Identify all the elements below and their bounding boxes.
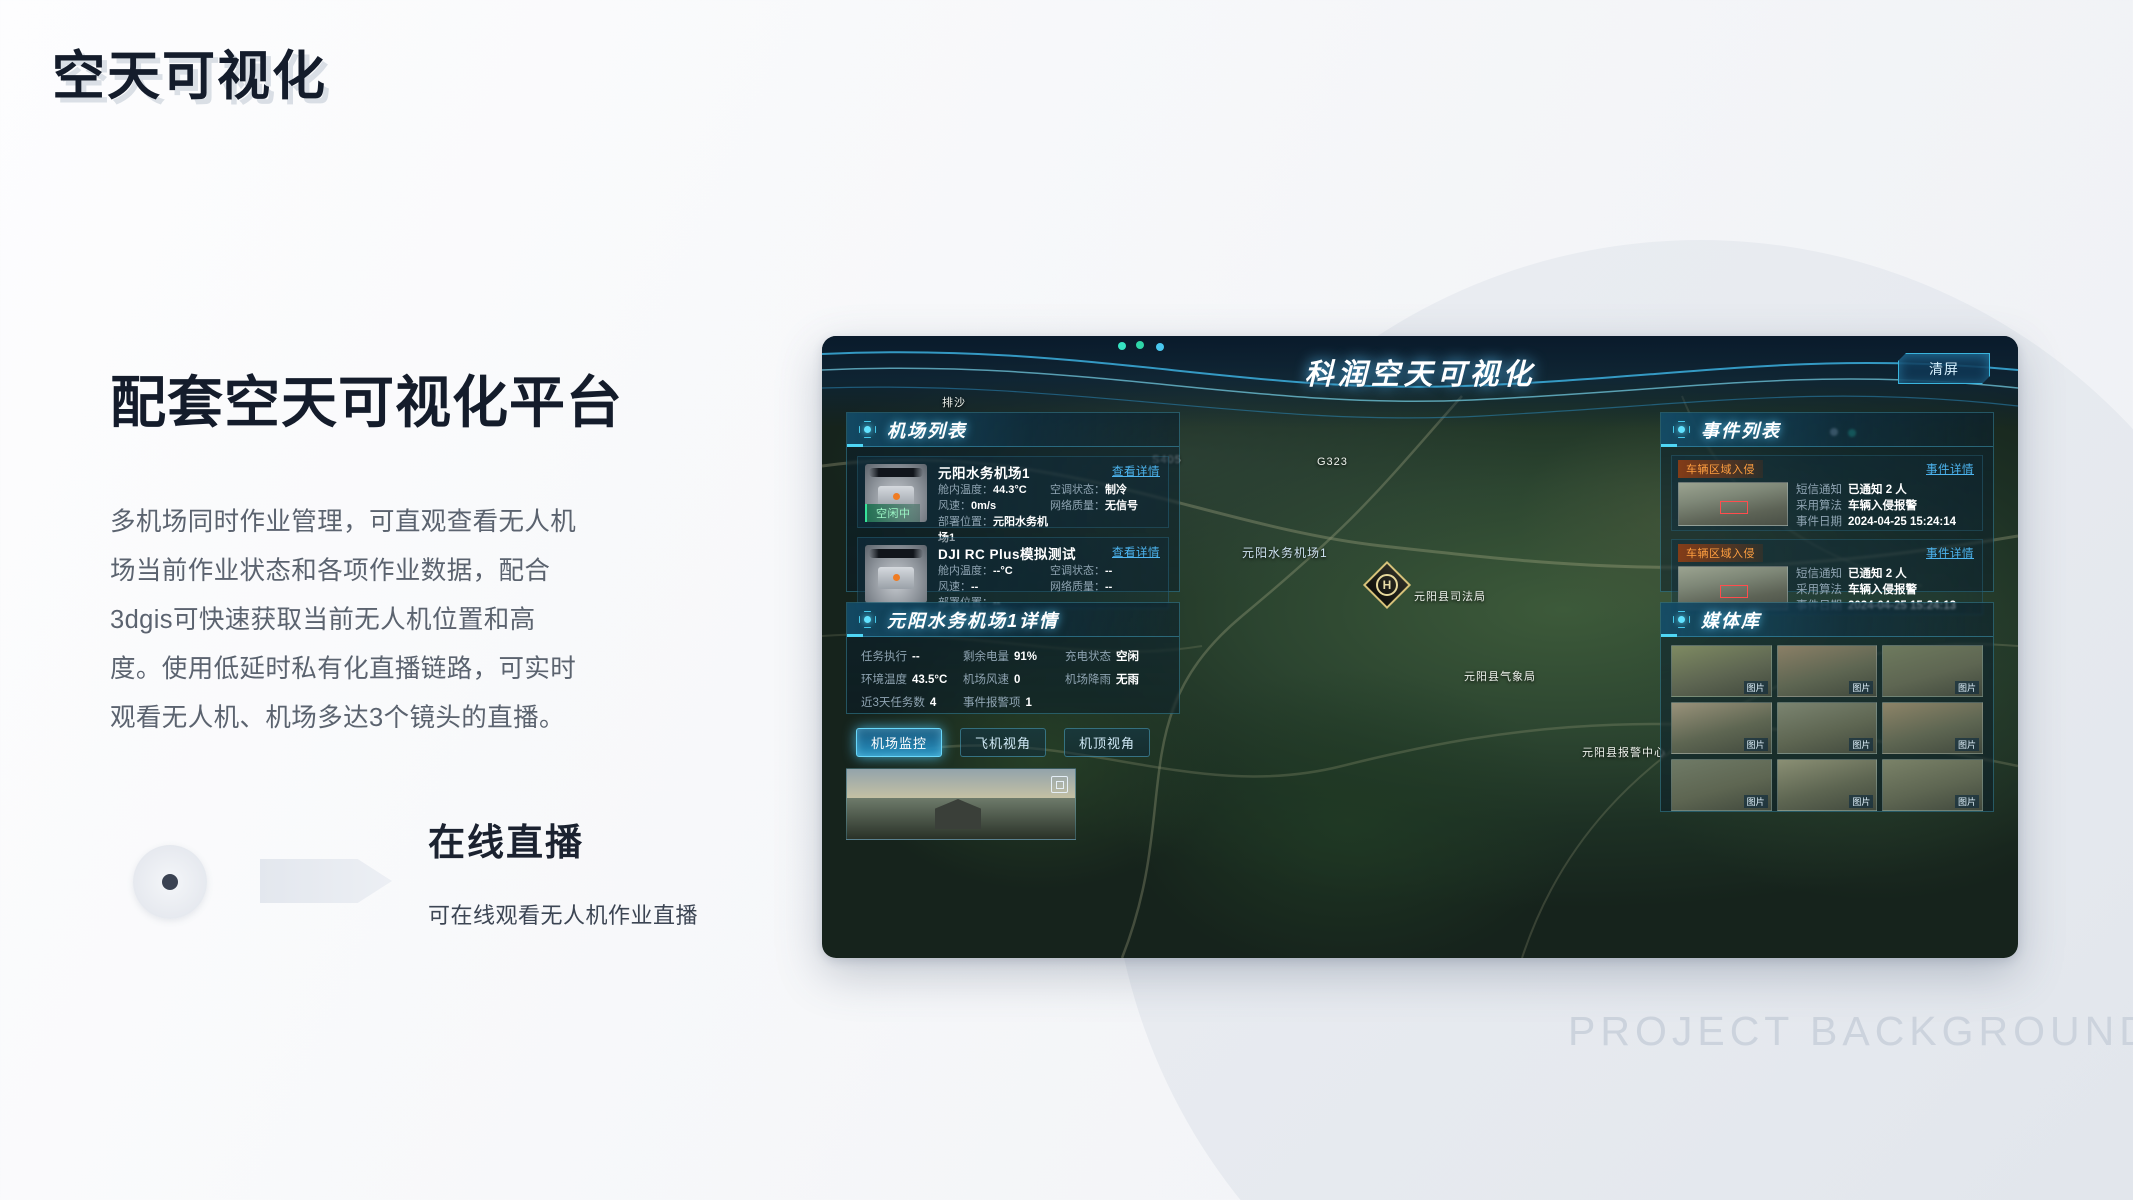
media-type-tag: 图片 bbox=[1744, 681, 1768, 694]
detail-cell: 近3天任务数4 bbox=[861, 694, 963, 713]
airport-card-container: 元阳水务机场1查看详情舱内温度：44.3°C空调状态：制冷风速：0m/s网络质量… bbox=[847, 456, 1179, 609]
airport-list-panel: 机场列表 元阳水务机场1查看详情舱内温度：44.3°C空调状态：制冷风速：0m/… bbox=[846, 412, 1180, 592]
background-watermark: PROJECT BACKGROUND bbox=[1568, 1008, 2133, 1055]
live-stream-title: 在线直播 bbox=[428, 812, 584, 866]
target-icon bbox=[1673, 611, 1690, 628]
event-field-row: 短信通知已通知 2 人 bbox=[1796, 482, 1976, 498]
airport-card[interactable]: 元阳水务机场1查看详情舱内温度：44.3°C空调状态：制冷风速：0m/s网络质量… bbox=[857, 456, 1169, 528]
media-thumbnail[interactable]: 图片 bbox=[1671, 702, 1772, 754]
airport-name: 元阳水务机场1 bbox=[938, 462, 1030, 482]
airport-detail-header: 元阳水务机场1详情 bbox=[847, 603, 1179, 637]
media-thumbnail[interactable]: 图片 bbox=[1882, 645, 1983, 697]
target-icon bbox=[859, 421, 876, 438]
event-field-row: 采用算法车辆入侵报警 bbox=[1796, 582, 1976, 598]
media-library-panel: 媒体库 图片图片图片图片图片图片图片图片图片 bbox=[1660, 602, 1994, 812]
helipad-marker-glyph: H bbox=[1376, 574, 1398, 596]
airport-list-header: 机场列表 bbox=[847, 413, 1179, 447]
media-type-tag: 图片 bbox=[1849, 681, 1873, 694]
event-detail-link[interactable]: 事件详情 bbox=[1926, 461, 1974, 477]
media-type-tag: 图片 bbox=[1955, 738, 1979, 751]
airport-field-row: 舱内温度：44.3°C空调状态：制冷 bbox=[938, 482, 1162, 498]
airport-field-row: 舱内温度：--°C空调状态：-- bbox=[938, 563, 1162, 579]
airport-card[interactable]: DJI RC Plus模拟测试查看详情舱内温度：--°C空调状态：--风速：--… bbox=[857, 537, 1169, 609]
event-field-row: 短信通知已通知 2 人 bbox=[1796, 566, 1976, 582]
detail-cell: 充电状态空闲 bbox=[1065, 648, 1167, 667]
page-title: 空天可视化 bbox=[52, 34, 327, 110]
map-label: 元阳县司法局 bbox=[1414, 588, 1486, 604]
event-card-container: 车辆区域入侵事件详情短信通知已通知 2 人采用算法车辆入侵报警事件日期2024-… bbox=[1661, 455, 1993, 615]
airport-detail-grid: 任务执行--剩余电量91%充电状态空闲环境温度43.5°C机场风速0机场降雨无雨… bbox=[847, 637, 1179, 713]
map-label: 元阳水务机场1 bbox=[1242, 544, 1328, 561]
target-icon bbox=[1673, 421, 1690, 438]
event-detail-link[interactable]: 事件详情 bbox=[1926, 545, 1974, 561]
media-library-title: 媒体库 bbox=[1701, 607, 1761, 633]
airport-detail-title: 元阳水务机场1详情 bbox=[887, 607, 1059, 633]
detail-cell: 机场降雨无雨 bbox=[1065, 671, 1167, 690]
dashboard-title: 科润空天可视化 bbox=[822, 351, 2018, 393]
event-card[interactable]: 车辆区域入侵事件详情短信通知已通知 2 人采用算法车辆入侵报警事件日期2024-… bbox=[1671, 455, 1983, 531]
airport-list-title: 机场列表 bbox=[887, 417, 967, 443]
event-field-row: 采用算法车辆入侵报警 bbox=[1796, 498, 1976, 514]
media-library-header: 媒体库 bbox=[1661, 603, 1993, 637]
event-thumbnail[interactable] bbox=[1678, 482, 1788, 526]
dashboard-window: 科润空天可视化 清屏 排沙元阳水务机场1元阳县司法局元阳县气象局元阳县报警中心S… bbox=[822, 336, 2018, 958]
map-label: 元阳县报警中心 bbox=[1582, 744, 1666, 760]
view-tab-2[interactable]: 机顶视角 bbox=[1064, 728, 1150, 757]
detail-cell: 事件报警项1 bbox=[963, 694, 1065, 713]
view-detail-link[interactable]: 查看详情 bbox=[1112, 544, 1160, 560]
media-thumbnail[interactable]: 图片 bbox=[1777, 645, 1878, 697]
airport-field-row: 风速：--网络质量：-- bbox=[938, 579, 1162, 595]
map-label: G323 bbox=[1317, 456, 1348, 468]
media-type-tag: 图片 bbox=[1955, 795, 1979, 808]
video-sky bbox=[847, 769, 1075, 798]
video-structure bbox=[935, 799, 981, 829]
event-list-header: 事件列表 bbox=[1661, 413, 1993, 447]
section-body-text: 多机场同时作业管理，可直观查看无人机场当前作业状态和各项作业数据，配合3dgis… bbox=[110, 498, 580, 743]
arrow-icon bbox=[260, 859, 392, 903]
target-icon bbox=[859, 611, 876, 628]
detail-cell: 剩余电量91% bbox=[963, 648, 1065, 667]
media-type-tag: 图片 bbox=[1849, 738, 1873, 751]
media-type-tag: 图片 bbox=[1744, 738, 1768, 751]
airport-detail-panel: 元阳水务机场1详情 任务执行--剩余电量91%充电状态空闲环境温度43.5°C机… bbox=[846, 602, 1180, 714]
airport-field-row: 风速：0m/s网络质量：无信号 bbox=[938, 498, 1162, 514]
event-list-panel: 事件列表 车辆区域入侵事件详情短信通知已通知 2 人采用算法车辆入侵报警事件日期… bbox=[1660, 412, 1994, 592]
clear-screen-button[interactable]: 清屏 bbox=[1898, 353, 1990, 384]
detail-cell: 环境温度43.5°C bbox=[861, 671, 963, 690]
status-badge: 空闲中 bbox=[865, 504, 920, 522]
live-stream-subtitle: 可在线观看无人机作业直播 bbox=[428, 898, 698, 930]
event-list-title: 事件列表 bbox=[1701, 417, 1781, 443]
event-type-badge: 车辆区域入侵 bbox=[1678, 544, 1763, 562]
fullscreen-icon[interactable] bbox=[1051, 776, 1068, 793]
map-label: 排沙 bbox=[942, 394, 966, 410]
media-type-tag: 图片 bbox=[1744, 795, 1768, 808]
live-video-preview[interactable] bbox=[846, 768, 1076, 840]
detail-cell: 任务执行-- bbox=[861, 648, 963, 667]
media-type-tag: 图片 bbox=[1955, 681, 1979, 694]
media-thumbnail[interactable]: 图片 bbox=[1777, 759, 1878, 811]
map-label: 元阳县气象局 bbox=[1464, 668, 1536, 684]
airport-name: DJI RC Plus模拟测试 bbox=[938, 543, 1076, 563]
media-thumbnail[interactable]: 图片 bbox=[1671, 759, 1772, 811]
view-tab-group: 机场监控飞机视角机顶视角 bbox=[856, 728, 1150, 757]
event-type-badge: 车辆区域入侵 bbox=[1678, 460, 1763, 478]
event-field-row: 事件日期2024-04-25 15:24:14 bbox=[1796, 514, 1976, 530]
view-tab-0[interactable]: 机场监控 bbox=[856, 728, 942, 757]
media-thumbnail[interactable]: 图片 bbox=[1882, 702, 1983, 754]
media-thumbnail[interactable]: 图片 bbox=[1882, 759, 1983, 811]
live-indicator-dot bbox=[162, 874, 178, 890]
event-field-rows: 短信通知已通知 2 人采用算法车辆入侵报警事件日期2024-04-25 15:2… bbox=[1796, 482, 1976, 530]
section-heading: 配套空天可视化平台 bbox=[110, 358, 623, 439]
media-type-tag: 图片 bbox=[1849, 795, 1873, 808]
detail-cell: 机场风速0 bbox=[963, 671, 1065, 690]
media-thumbnail[interactable]: 图片 bbox=[1777, 702, 1878, 754]
media-thumbnail[interactable]: 图片 bbox=[1671, 645, 1772, 697]
media-thumbnail-grid: 图片图片图片图片图片图片图片图片图片 bbox=[1661, 637, 1993, 819]
view-tab-1[interactable]: 飞机视角 bbox=[960, 728, 1046, 757]
view-detail-link[interactable]: 查看详情 bbox=[1112, 463, 1160, 479]
drone-thumbnail bbox=[865, 545, 927, 603]
